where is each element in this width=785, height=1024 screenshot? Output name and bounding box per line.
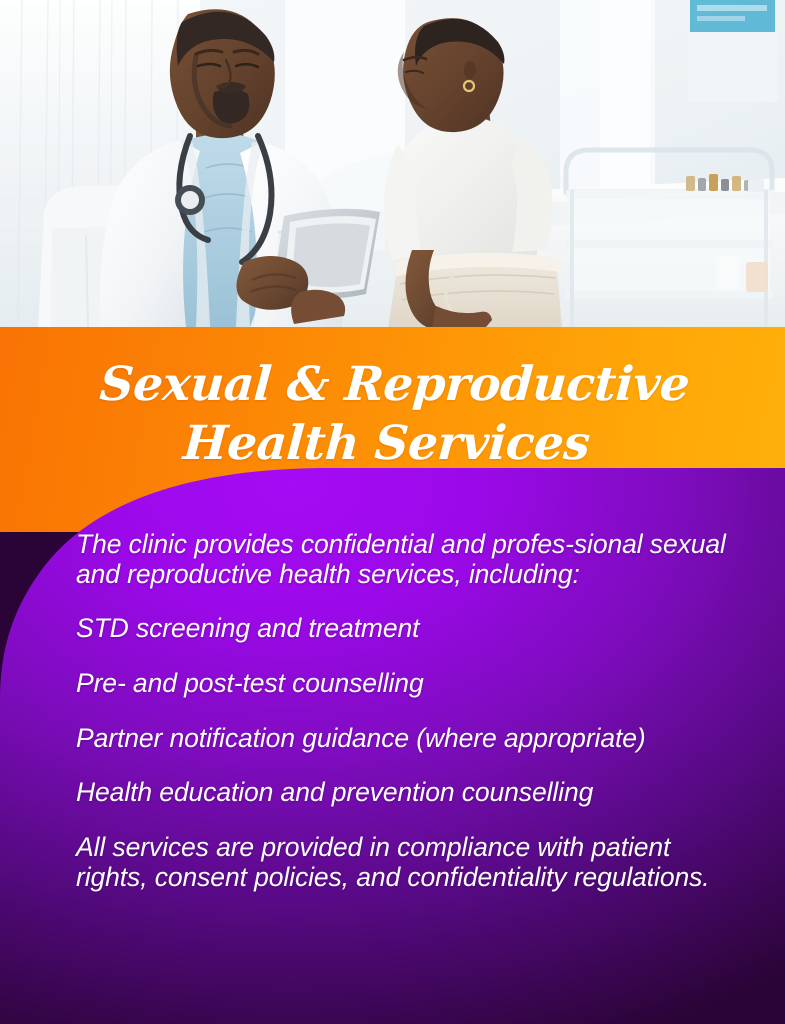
paragraph-compliance: All services are provided in compliance … [76, 833, 748, 892]
title-line-1: Sexual & Reproductive [0, 355, 785, 414]
paragraph-intro: The clinic provides confidential and pro… [76, 530, 748, 589]
consultation-photo-illustration [0, 0, 785, 327]
title-line-2: Health Services [0, 414, 785, 473]
paragraph-counselling: Pre- and post-test counselling [76, 669, 748, 699]
header-photo [0, 0, 785, 327]
paragraph-partner-notification: Partner notification guidance (where app… [76, 724, 748, 754]
paragraph-std-screening: STD screening and treatment [76, 614, 748, 644]
poster-page: Sexual & Reproductive Health Services Th… [0, 0, 785, 1024]
paragraph-health-education: Health education and prevention counsell… [76, 778, 748, 808]
body-copy: The clinic provides confidential and pro… [76, 530, 748, 892]
page-title: Sexual & Reproductive Health Services [0, 355, 785, 473]
